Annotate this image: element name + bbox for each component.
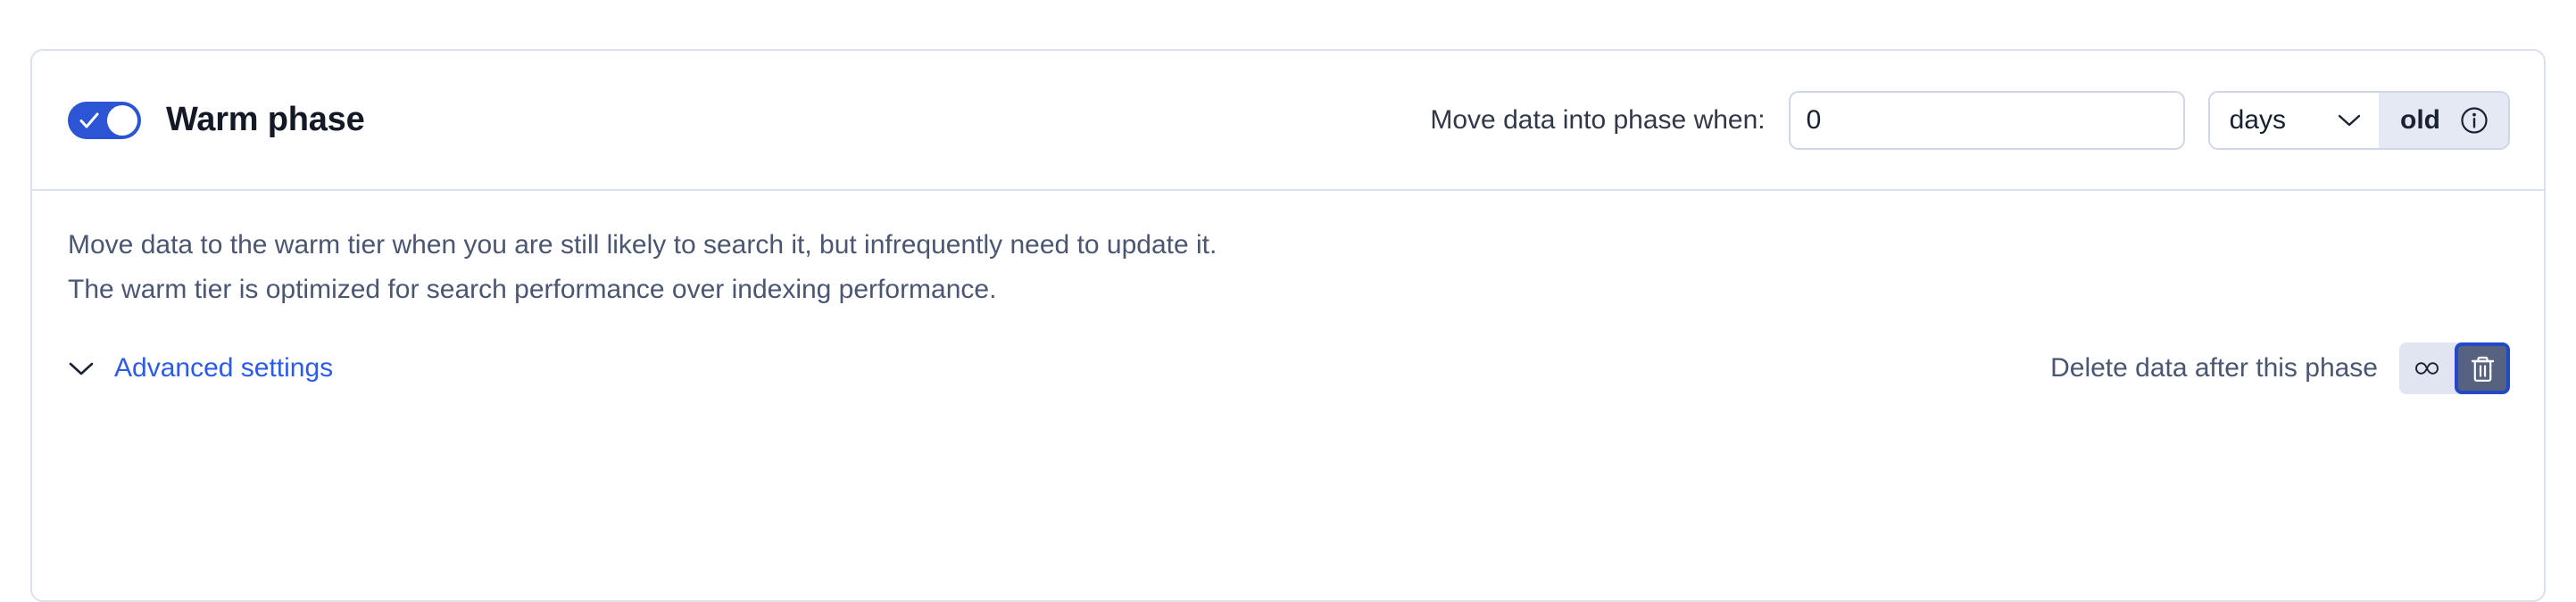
chevron-down-icon: [68, 360, 95, 376]
check-icon: [79, 111, 99, 129]
warm-phase-card: Warm phase Move data into phase when: da…: [30, 49, 2546, 602]
infinity-icon: [2412, 359, 2442, 377]
phase-header: Warm phase Move data into phase when: da…: [32, 51, 2544, 191]
unit-select[interactable]: days: [2210, 93, 2379, 148]
delete-data-group: Delete data after this phase: [2050, 342, 2510, 394]
unit-suffix-label: old: [2400, 105, 2440, 136]
info-circle-icon[interactable]: [2460, 106, 2489, 135]
unit-select-group: days old: [2208, 91, 2510, 150]
unit-select-value: days: [2230, 105, 2286, 136]
delete-option-button-group: [2399, 342, 2510, 394]
min-age-input[interactable]: [1789, 91, 2185, 150]
page-title: Warm phase: [166, 101, 365, 139]
phase-header-controls: Move data into phase when: days old: [1430, 91, 2510, 150]
toggle-knob: [107, 105, 137, 136]
trash-icon: [2471, 355, 2495, 383]
phase-body: Move data to the warm tier when you are …: [32, 191, 2544, 394]
phase-header-left: Warm phase: [68, 101, 365, 139]
advanced-settings-label: Advanced settings: [114, 353, 333, 383]
move-data-label: Move data into phase when:: [1430, 105, 1765, 136]
advanced-settings-toggle[interactable]: Advanced settings: [68, 353, 333, 383]
delete-data-button[interactable]: [2455, 342, 2510, 394]
phase-footer: Advanced settings Delete data after this…: [68, 342, 2510, 394]
unit-append: old: [2379, 93, 2508, 148]
keep-forever-button[interactable]: [2399, 342, 2455, 394]
delete-data-label: Delete data after this phase: [2050, 353, 2378, 383]
phase-description: Move data to the warm tier when you are …: [68, 223, 1255, 312]
warm-phase-toggle[interactable]: [68, 102, 141, 139]
chevron-down-icon: [2338, 113, 2361, 128]
